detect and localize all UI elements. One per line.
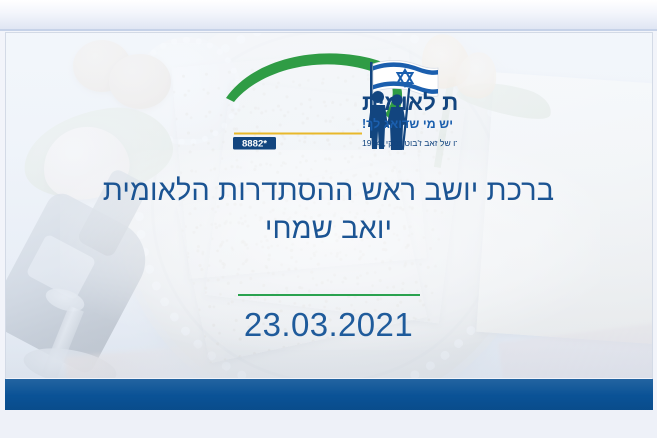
logo-phone-badge: 8882* xyxy=(242,139,267,150)
walnut xyxy=(109,54,171,109)
headline-block: ברכת יושב ראש ההסתדרות הלאומית יואב שמחי xyxy=(28,172,629,248)
presentation-slide: הסתדרות לאומית יש מי שדואג לך! מייסודו ש… xyxy=(0,0,657,438)
top-decorative-band xyxy=(0,0,657,31)
top-band-rule xyxy=(0,29,657,31)
logo-founding-note: מייסודו של זאב ז'בוטינסקי, 1934 xyxy=(362,138,457,148)
date-divider-rule xyxy=(238,294,420,296)
logo-organization-name: הסתדרות לאומית xyxy=(362,90,457,115)
logo-gold-rule xyxy=(234,133,362,135)
slide-date: 23.03.2021 xyxy=(28,306,629,344)
bottom-blue-bar xyxy=(5,379,653,410)
bottom-filler xyxy=(0,410,657,438)
headline-line-1: ברכת יושב ראש ההסתדרות הלאומית xyxy=(28,172,629,210)
organization-logo: הסתדרות לאומית יש מי שדואג לך! מייסודו ש… xyxy=(222,48,457,153)
organization-logo-svg: הסתדרות לאומית יש מי שדואג לך! מייסודו ש… xyxy=(222,48,457,153)
logo-tagline: יש מי שדואג לך! xyxy=(362,117,453,131)
headline-line-2: יואב שמחי xyxy=(28,210,629,248)
